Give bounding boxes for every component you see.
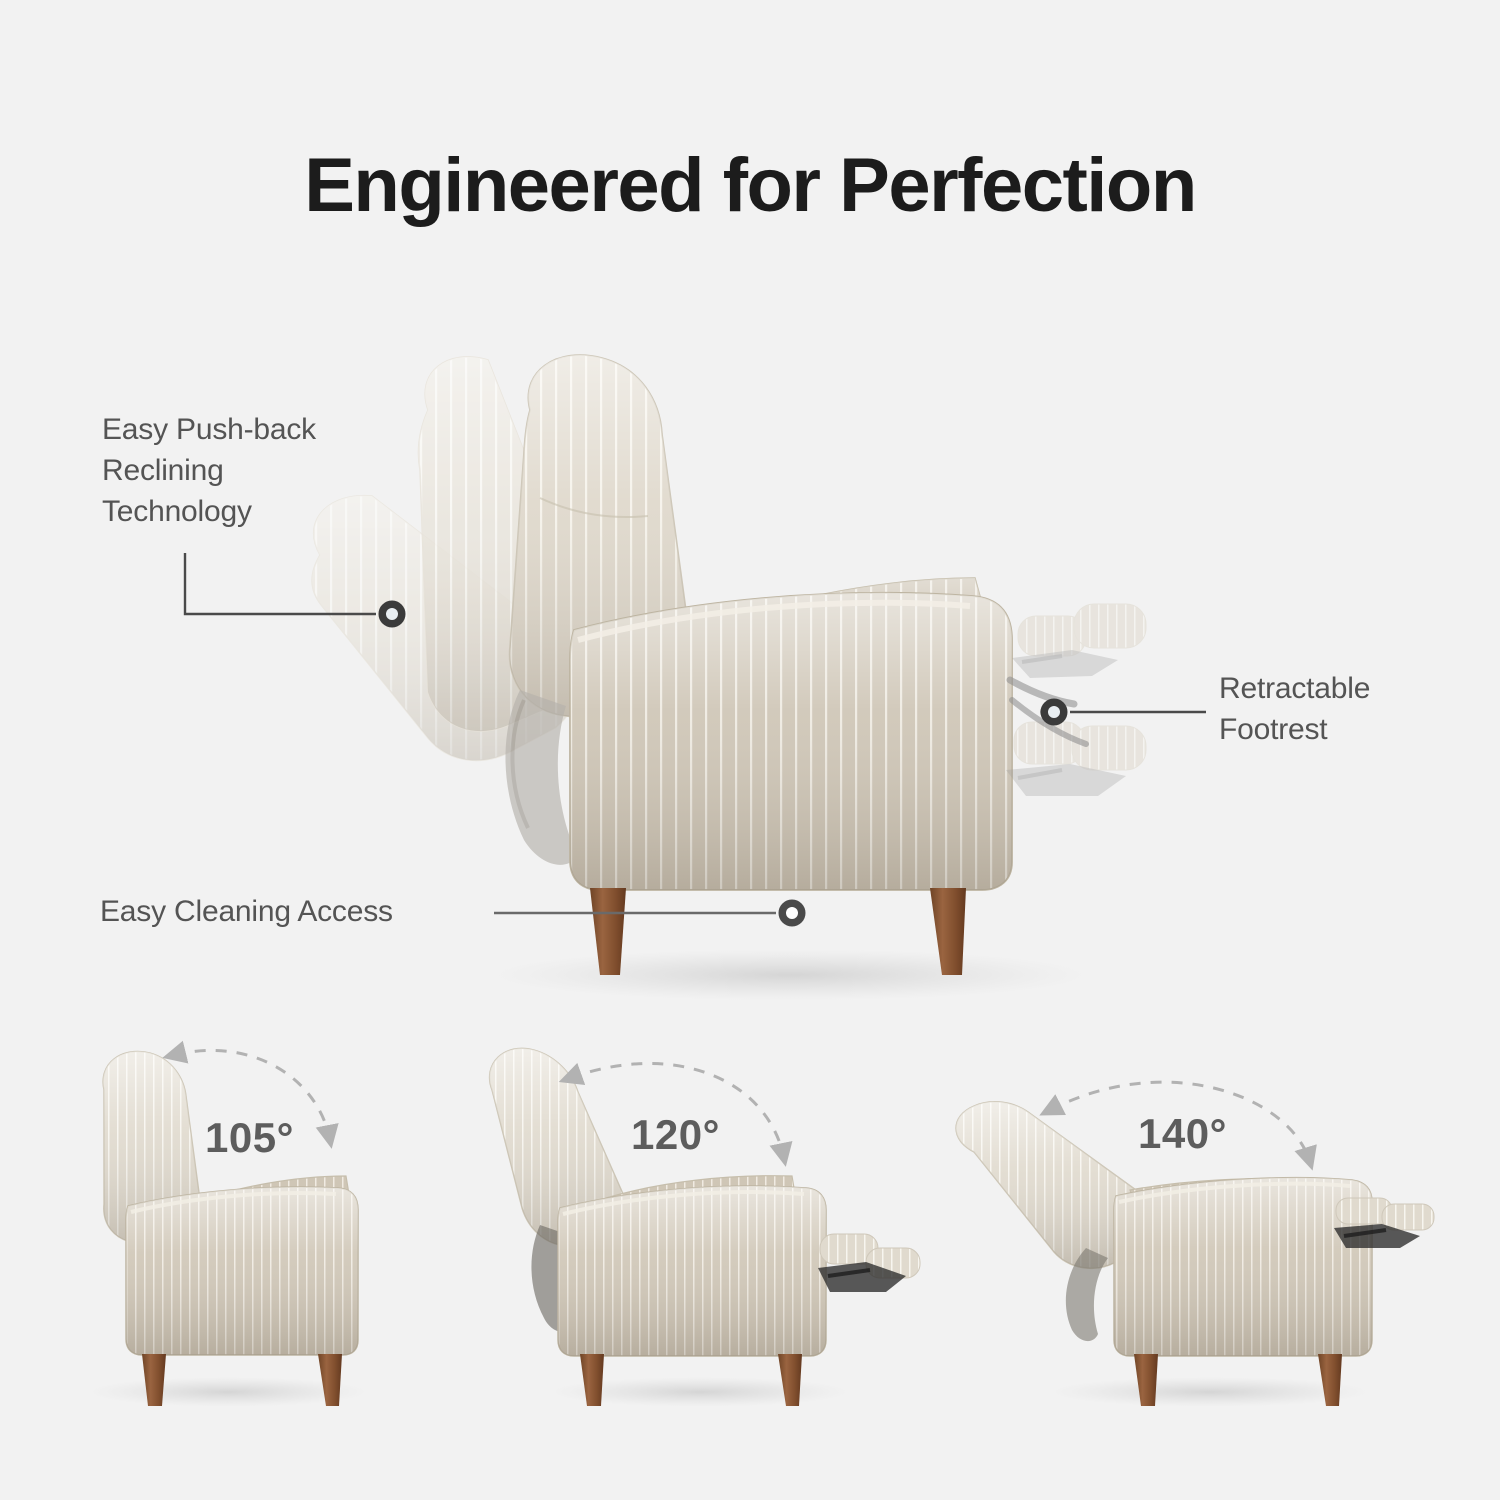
thumb120-footrest — [818, 1234, 920, 1292]
callout-label-easy-cleaning: Easy Cleaning Access — [100, 891, 393, 932]
chair-arm-side-panel — [570, 593, 1012, 890]
recline-thumbnail-105 — [88, 1050, 368, 1407]
callout-label-push-back: Easy Push-back Reclining Technology — [102, 409, 316, 532]
footrest-ghost-lower — [1006, 722, 1146, 796]
angle-label-140: 140° — [1138, 1110, 1227, 1158]
callout-label-retractable-footrest: Retractable Footrest — [1219, 668, 1370, 750]
infographic-canvas: Engineered for Perfection — [0, 0, 1500, 1500]
angle-label-105: 105° — [205, 1114, 294, 1162]
angle-label-120: 120° — [631, 1111, 720, 1159]
product-illustration — [0, 0, 1500, 1500]
footrest-ghost-upper — [1012, 604, 1146, 678]
recline-thumbnail-120 — [490, 1048, 920, 1407]
leader-cleaning — [494, 900, 805, 926]
main-recliner-illustration — [312, 355, 1146, 1001]
floor-shadow — [490, 949, 1090, 1001]
thumb140-footrest — [1334, 1198, 1434, 1248]
